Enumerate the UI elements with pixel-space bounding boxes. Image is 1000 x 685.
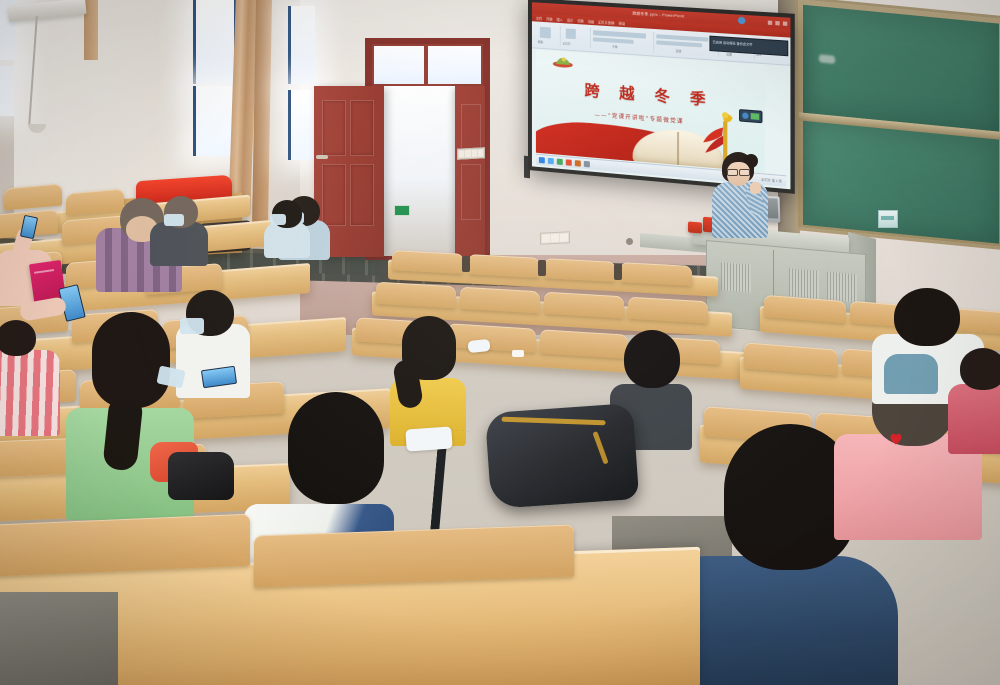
lecture-hall-photo: 跨越冬季.pptx - PowerPoint 文件 开始 插入 设计 切换 动画… [0, 0, 1000, 685]
face-mask-on-desk-1 [467, 339, 490, 353]
glasses-icon [727, 169, 750, 174]
badge-chip [750, 113, 759, 120]
seatback-d3 [544, 292, 624, 319]
wall-outlet-icon [626, 238, 633, 245]
attendee-white-tank-mask [180, 318, 204, 334]
menu-item-6[interactable]: 幻灯片放映 [598, 19, 614, 25]
backpack-stripe-2 [592, 431, 608, 465]
attendee-green-shirt-head [92, 312, 170, 408]
taskbar-start-icon[interactable] [539, 157, 545, 164]
seat-gap-c1 [462, 256, 470, 272]
black-purse [168, 452, 234, 500]
window-left-lower [193, 86, 236, 156]
attendee-center-dark-head [624, 330, 680, 388]
chalkboard-panel-bottom [803, 121, 999, 244]
podium-vent-mid [789, 268, 819, 299]
ribbon-group-1: 幻灯片 [563, 41, 571, 46]
taskbar-app3-icon[interactable] [584, 161, 590, 168]
light-switch-plate-lower[interactable] [540, 231, 570, 245]
menu-item-5[interactable]: 动画 [588, 18, 594, 23]
seatback-c2 [468, 254, 540, 278]
seatback-c4 [620, 262, 692, 286]
seat-gap-c2 [538, 260, 546, 276]
exit-sign-icon [394, 205, 410, 216]
door-leaf-right[interactable] [455, 86, 485, 258]
seatback-d2 [460, 287, 540, 314]
taskbar-powerpoint-icon[interactable] [575, 160, 581, 167]
menu-item-0[interactable]: 文件 [536, 15, 542, 20]
podium-vent-right [827, 272, 857, 303]
ppt-title-text: 跨越冬季.pptx - PowerPoint [632, 11, 684, 19]
backpack-stripe-1 [501, 417, 605, 426]
taskbar-app1-icon[interactable] [557, 159, 563, 166]
chalkboard-panel-top [803, 5, 999, 132]
presenter [706, 152, 772, 238]
attendee-grey-rear-torso [150, 222, 208, 266]
attendee-red-far-right-head [960, 348, 1000, 390]
door-handle[interactable] [316, 155, 328, 159]
taskbar-app2-icon[interactable] [566, 159, 572, 166]
window-mid-upper [288, 6, 315, 84]
ribbon-group-0: 粘贴 [538, 40, 543, 44]
presenter-hand [750, 182, 761, 194]
attendee-blue-white-front-head [288, 392, 384, 504]
eraser-box [878, 210, 898, 228]
ribbon-group-2: 字体 [612, 45, 617, 49]
face-mask-on-desk-2 [405, 426, 452, 451]
attendee-teal-right-torso [884, 354, 938, 394]
seatback-c1 [392, 250, 464, 274]
menu-item-1[interactable]: 开始 [546, 16, 552, 21]
seatback-c3 [544, 258, 616, 282]
attendee-grey-rear-mask [164, 214, 184, 226]
taskbar-explorer-icon[interactable] [548, 158, 554, 165]
red-box-small [688, 221, 702, 233]
ribbon-group-4: 绘图 [726, 52, 731, 57]
red-heart-badge-icon [889, 432, 903, 445]
window-mid-lower [288, 90, 315, 160]
seatback-d1 [376, 282, 456, 309]
attendee-lightblue-rear-mask [270, 214, 286, 225]
window-far-left-lower [0, 66, 14, 116]
window-controls[interactable] [768, 20, 787, 25]
signin-badge[interactable] [739, 109, 762, 123]
black-backpack [485, 403, 639, 509]
attendee-white-right-rear-head [894, 288, 960, 346]
transom-mullion [424, 44, 428, 86]
badge-avatar-icon [742, 112, 748, 119]
small-paper-1 [512, 350, 524, 357]
attendee-far-left-striped-torso [0, 350, 60, 436]
floor-lower-left [0, 592, 118, 685]
chalk-smudge [819, 54, 835, 64]
attendee-far-left-striped-head [0, 320, 36, 356]
menu-item-3[interactable]: 设计 [567, 17, 573, 22]
menu-item-2[interactable]: 插入 [557, 16, 563, 21]
window-left-upper [193, 0, 236, 84]
green-hat-deco-icon [552, 55, 574, 70]
menu-item-4[interactable]: 切换 [577, 18, 583, 23]
menu-item-7[interactable]: 审阅 [618, 20, 625, 25]
seatback-d4 [628, 297, 708, 324]
account-avatar-icon[interactable] [738, 17, 745, 25]
light-switch-plate-upper[interactable] [457, 147, 485, 159]
ribbon-group-3: 段落 [676, 49, 681, 53]
podium-vent-left [721, 262, 751, 293]
attendee-red-far-right-torso [948, 384, 1000, 454]
autosave-notification-text: 已启用 自动保存 备份此文件 [710, 37, 787, 52]
seat-gap-c3 [614, 264, 622, 280]
